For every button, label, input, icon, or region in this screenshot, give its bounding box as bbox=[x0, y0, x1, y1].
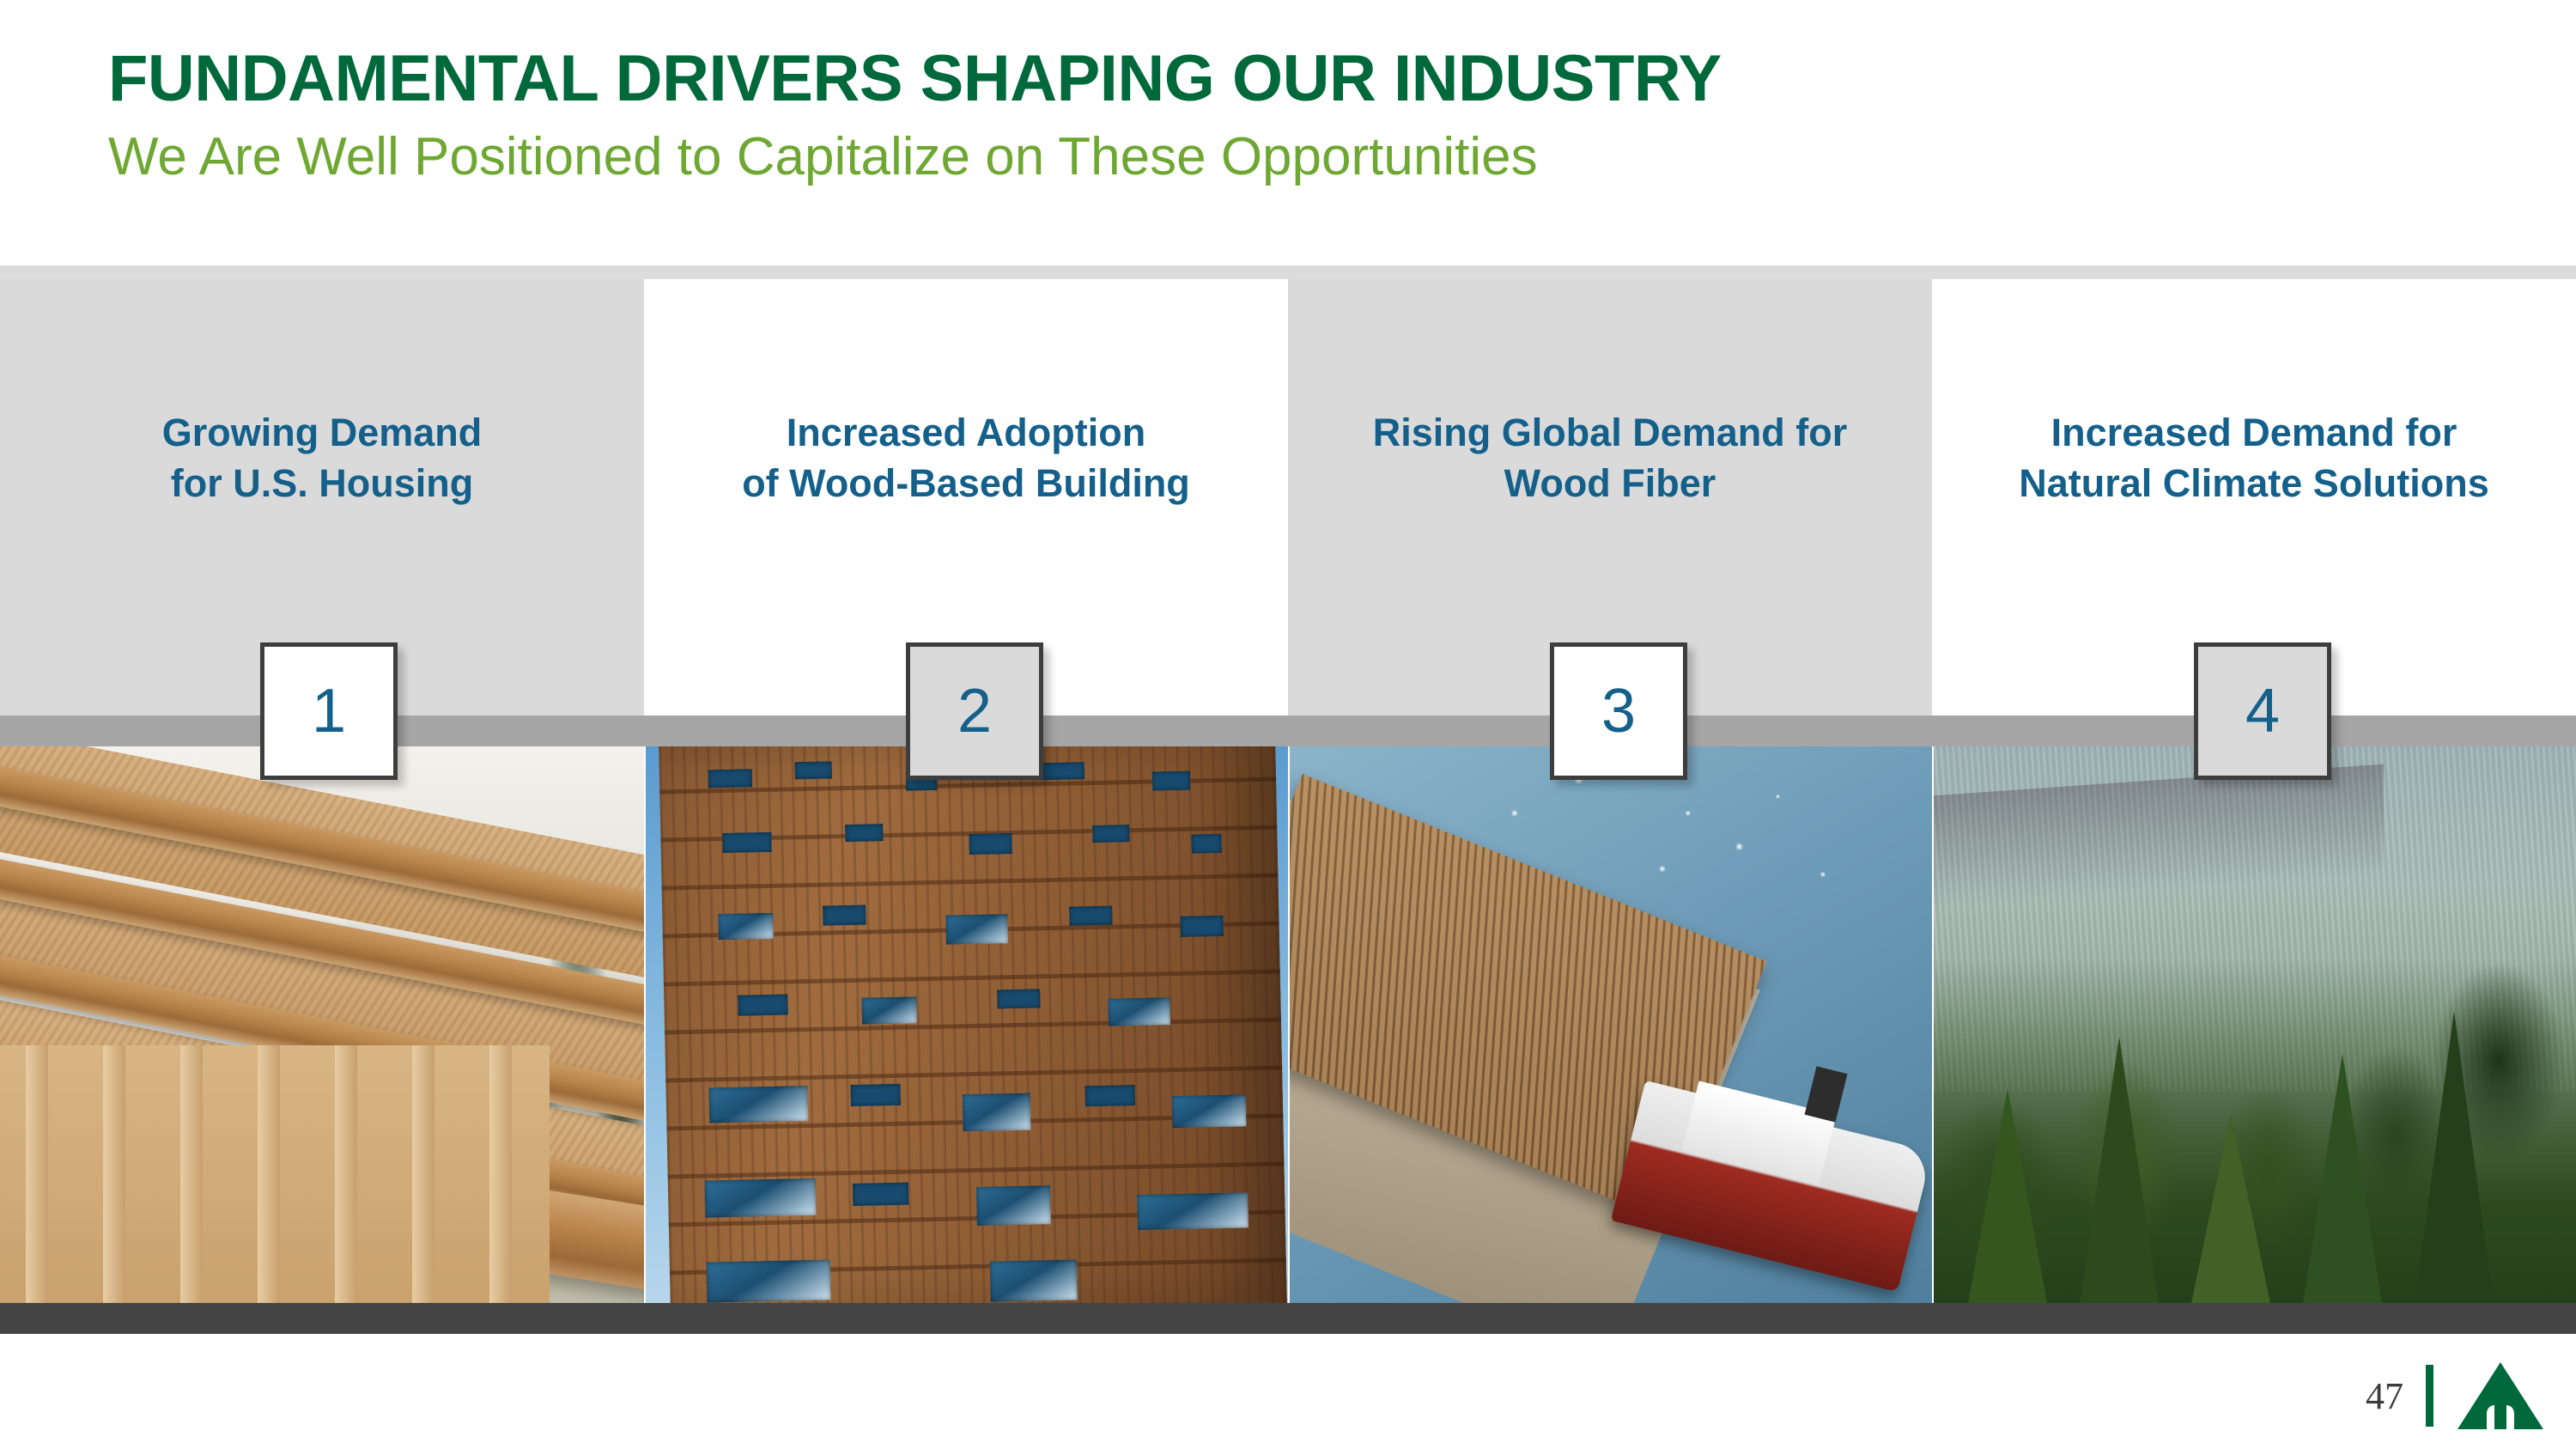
driver-card-3-title: Rising Global Demand for Wood Fiber bbox=[1288, 408, 1932, 508]
footer-separator bbox=[2426, 1365, 2433, 1427]
page-title: FUNDAMENTAL DRIVERS SHAPING OUR INDUSTRY bbox=[108, 45, 2341, 113]
log-export-terminal-image bbox=[1290, 746, 1932, 1303]
driver-photo-1 bbox=[0, 746, 644, 1303]
driver-card-3-title-line1: Rising Global Demand for bbox=[1310, 408, 1910, 459]
foreground-trees bbox=[1934, 958, 2576, 1303]
driver-badge-2[interactable]: 2 bbox=[906, 642, 1043, 780]
driver-card-2-title-line2: of Wood-Based Building bbox=[666, 459, 1266, 509]
driver-photo-3 bbox=[1290, 746, 1932, 1303]
page-subtitle: We Are Well Positioned to Capitalize on … bbox=[108, 125, 2341, 189]
forest-hillside-image bbox=[1934, 746, 2576, 1303]
driver-card-1-title-line1: Growing Demand bbox=[22, 408, 622, 459]
title-block: FUNDAMENTAL DRIVERS SHAPING OUR INDUSTRY… bbox=[108, 45, 2341, 189]
driver-card-2-title-line1: Increased Adoption bbox=[666, 408, 1266, 459]
mass-timber-tower-image bbox=[646, 746, 1288, 1303]
page-number: 47 bbox=[2366, 1374, 2403, 1418]
driver-card-1-title-line2: for U.S. Housing bbox=[22, 459, 622, 509]
driver-photo-4 bbox=[1934, 746, 2576, 1303]
driver-photo-row bbox=[0, 746, 2576, 1303]
bottom-accent-bar bbox=[0, 1303, 2576, 1334]
driver-card-4-title-line2: Natural Climate Solutions bbox=[1954, 459, 2554, 509]
driver-photo-2 bbox=[646, 746, 1288, 1303]
top-accent-band bbox=[0, 265, 2576, 279]
framing-stud-wall bbox=[0, 1045, 550, 1303]
driver-badge-3[interactable]: 3 bbox=[1550, 642, 1687, 780]
driver-card-1-title: Growing Demand for U.S. Housing bbox=[0, 408, 644, 508]
slide-canvas: FUNDAMENTAL DRIVERS SHAPING OUR INDUSTRY… bbox=[0, 0, 2576, 1449]
driver-card-2-title: Increased Adoption of Wood-Based Buildin… bbox=[644, 408, 1288, 508]
driver-badge-1[interactable]: 1 bbox=[260, 642, 398, 780]
slide-footer: 47 bbox=[2366, 1361, 2545, 1431]
timber-tower-facade bbox=[659, 746, 1287, 1303]
weyerhaeuser-triangle-logo bbox=[2456, 1361, 2545, 1431]
driver-card-3-title-line2: Wood Fiber bbox=[1310, 459, 1910, 509]
wood-framing-image bbox=[0, 746, 644, 1303]
driver-card-4-title-line1: Increased Demand for bbox=[1954, 408, 2554, 459]
driver-badge-4[interactable]: 4 bbox=[2194, 642, 2331, 780]
driver-card-4-title: Increased Demand for Natural Climate Sol… bbox=[1932, 408, 2576, 508]
